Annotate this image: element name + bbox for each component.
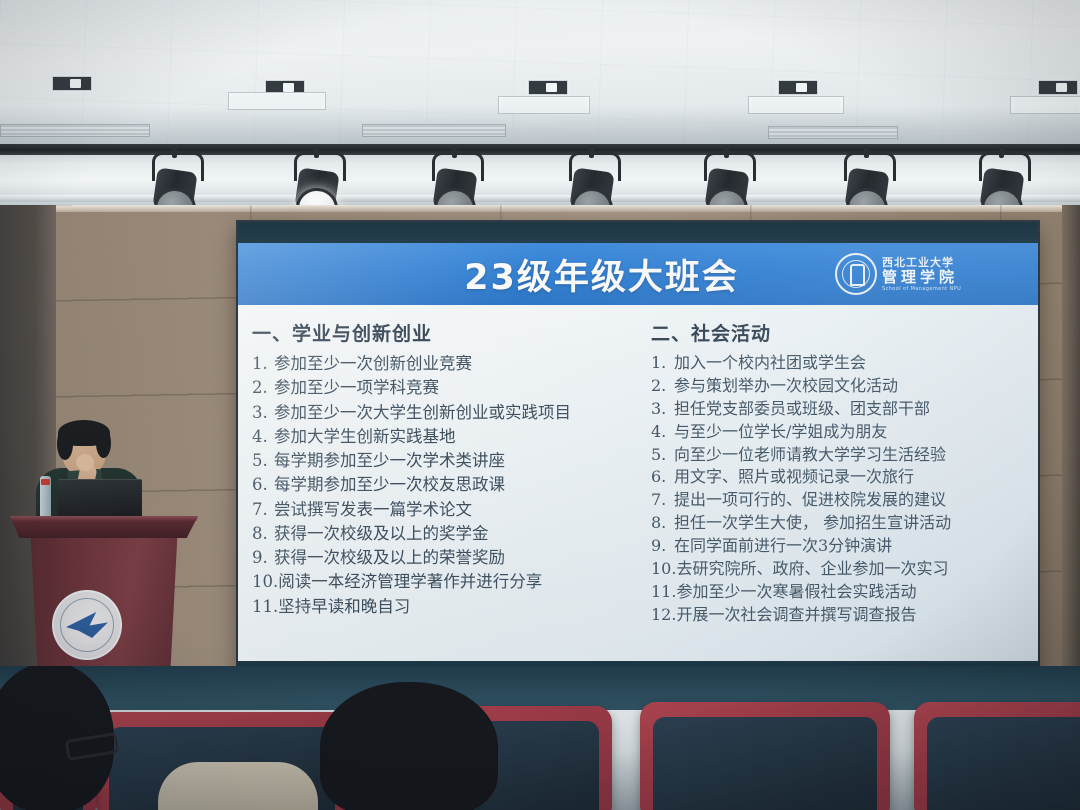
checklist-academics: 1.参加至少一次创新创业竞赛 2.参加至少一项学科竞赛 3.参加至少一次大学生创… <box>252 352 631 619</box>
item-text: 提出一项可行的、促进校院发展的建议 <box>674 490 946 509</box>
logo-school-name: 管理学院 <box>882 270 961 285</box>
column-heading: 一、学业与创新创业 <box>252 319 631 346</box>
university-seal-icon <box>835 253 877 295</box>
item-text: 在同学面前进行一次3分钟演讲 <box>674 536 892 555</box>
item-number: 11. <box>252 595 278 619</box>
slide-title: 23级年级大班会 <box>238 249 835 300</box>
list-item: 12.开展一次社会调查并撰写调查报告 <box>651 604 1030 627</box>
university-emblem-icon <box>52 590 122 660</box>
laptop <box>58 479 142 519</box>
item-text: 阅读一本经济管理学著作并进行分享 <box>278 572 542 591</box>
recessed-downlight-icon <box>778 80 818 95</box>
item-text: 向至少一位老师请教大学学习生活经验 <box>674 445 946 464</box>
list-item: 7.提出一项可行的、促进校院发展的建议 <box>651 489 1030 512</box>
seat-cushion <box>927 717 1080 810</box>
item-text: 参加至少一次创新创业竞赛 <box>274 354 472 373</box>
item-text: 参与策划举办一次校园文化活动 <box>674 376 898 395</box>
item-number: 5. <box>651 444 674 467</box>
item-number: 5. <box>252 449 274 473</box>
audience-area <box>0 666 1080 810</box>
presenter-hair-side <box>57 428 73 460</box>
auditorium-seat <box>914 702 1080 810</box>
ceiling <box>0 0 1080 152</box>
recessed-downlight-icon <box>528 80 568 95</box>
item-text: 用文字、照片或视频记录一次旅行 <box>674 467 914 486</box>
list-item: 11.参加至少一次寒暑假社会实践活动 <box>651 581 1030 604</box>
item-text: 参加至少一项学科竞赛 <box>274 378 439 397</box>
presentation-slide: 23级年级大班会 西北工业大学 管理学院 School of Managemen… <box>238 243 1038 661</box>
item-number: 2. <box>252 376 274 400</box>
item-number: 10. <box>252 570 278 594</box>
item-number: 12. <box>651 604 676 627</box>
item-number: 6. <box>651 466 674 489</box>
list-item: 3.担任党支部委员或班级、团支部干部 <box>651 398 1030 421</box>
item-text: 开展一次社会调查并撰写调查报告 <box>676 605 916 624</box>
item-text: 去研究院所、政府、企业参加一次实习 <box>676 559 948 578</box>
list-item: 2.参与策划举办一次校园文化活动 <box>651 375 1030 398</box>
projection-screen: 23级年级大班会 西北工业大学 管理学院 School of Managemen… <box>238 222 1038 674</box>
item-text: 获得一次校级及以上的荣誉奖励 <box>274 548 505 567</box>
logo-english-name: School of Management NPU <box>882 287 961 292</box>
logo-university-name: 西北工业大学 <box>882 257 961 268</box>
item-number: 4. <box>252 425 274 449</box>
recessed-downlight-icon <box>52 76 92 91</box>
list-item: 5.每学期参加至少一次学术类讲座 <box>252 449 631 473</box>
list-item: 5.向至少一位老师请教大学学习生活经验 <box>651 444 1030 467</box>
audience-member-head <box>320 682 498 810</box>
item-number: 9. <box>651 535 674 558</box>
item-number: 2. <box>651 375 674 398</box>
slide-columns: 一、学业与创新创业 1.参加至少一次创新创业竞赛 2.参加至少一项学科竞赛 3.… <box>238 305 1038 661</box>
presenter-hand <box>76 454 94 471</box>
water-bottle <box>40 476 51 518</box>
item-number: 7. <box>252 498 274 522</box>
item-number: 1. <box>252 352 274 376</box>
list-item: 6.用文字、照片或视频记录一次旅行 <box>651 466 1030 489</box>
item-text: 坚持早读和晚自习 <box>278 597 410 616</box>
slide-column-social-activities: 二、社会活动 1.加入一个校内社团或学生会 2.参与策划举办一次校园文化活动 3… <box>639 305 1038 661</box>
list-item: 1.参加至少一次创新创业竞赛 <box>252 352 631 376</box>
item-number: 10. <box>651 558 676 581</box>
recessed-downlight-icon <box>1038 80 1078 95</box>
column-heading: 二、社会活动 <box>651 319 1030 346</box>
list-item: 7.尝试撰写发表一篇学术论文 <box>252 498 631 522</box>
lecture-hall-photo: 23级年级大班会 西北工业大学 管理学院 School of Managemen… <box>0 0 1080 810</box>
item-number: 11. <box>651 581 676 604</box>
logo-wordmark: 西北工业大学 管理学院 School of Management NPU <box>882 257 961 292</box>
lectern-top-edge <box>10 516 198 521</box>
item-text: 参加至少一次大学生创新创业或实践项目 <box>274 403 571 422</box>
item-text: 每学期参加至少一次校友思政课 <box>274 475 505 494</box>
emblem-arrow-mark <box>66 612 108 638</box>
item-number: 8. <box>651 512 674 535</box>
list-item: 8.担任一次学生大使， 参加招生宣讲活动 <box>651 512 1030 535</box>
list-item: 11.坚持早读和晚自习 <box>252 595 631 619</box>
presenter-hair-side <box>96 428 111 458</box>
university-logo: 西北工业大学 管理学院 School of Management NPU <box>835 253 1038 295</box>
item-number: 7. <box>651 489 674 512</box>
item-number: 9. <box>252 546 274 570</box>
list-item: 4.与至少一位学长/学姐成为朋友 <box>651 421 1030 444</box>
item-text: 每学期参加至少一次学术类讲座 <box>274 451 505 470</box>
list-item: 10.阅读一本经济管理学著作并进行分享 <box>252 570 631 594</box>
list-item: 6.每学期参加至少一次校友思政课 <box>252 473 631 497</box>
item-text: 与至少一位学长/学姐成为朋友 <box>674 422 887 441</box>
slide-title-bar: 23级年级大班会 西北工业大学 管理学院 School of Managemen… <box>238 243 1038 305</box>
item-number: 4. <box>651 421 674 444</box>
list-item: 8.获得一次校级及以上的奖学金 <box>252 522 631 546</box>
item-number: 1. <box>651 352 674 375</box>
screen-letterbox-top <box>238 222 1038 243</box>
list-item: 10.去研究院所、政府、企业参加一次实习 <box>651 558 1030 581</box>
item-text: 获得一次校级及以上的奖学金 <box>274 524 489 543</box>
list-item: 1.加入一个校内社团或学生会 <box>651 352 1030 375</box>
item-number: 3. <box>651 398 674 421</box>
item-text: 参加至少一次寒暑假社会实践活动 <box>676 582 916 601</box>
auditorium-seat <box>640 702 890 810</box>
item-text: 加入一个校内社团或学生会 <box>674 353 866 372</box>
slide-column-academics: 一、学业与创新创业 1.参加至少一次创新创业竞赛 2.参加至少一项学科竞赛 3.… <box>238 305 639 661</box>
item-text: 担任一次学生大使， 参加招生宣讲活动 <box>674 513 951 532</box>
item-text: 尝试撰写发表一篇学术论文 <box>274 500 472 519</box>
item-number: 8. <box>252 522 274 546</box>
item-text: 参加大学生创新实践基地 <box>274 427 456 446</box>
item-number: 3. <box>252 401 274 425</box>
list-item: 4.参加大学生创新实践基地 <box>252 425 631 449</box>
list-item: 2.参加至少一项学科竞赛 <box>252 376 631 400</box>
audience-clothing <box>158 762 318 810</box>
seat-cushion <box>653 717 877 810</box>
checklist-social: 1.加入一个校内社团或学生会 2.参与策划举办一次校园文化活动 3.担任党支部委… <box>651 352 1030 627</box>
item-number: 6. <box>252 473 274 497</box>
list-item: 9.在同学面前进行一次3分钟演讲 <box>651 535 1030 558</box>
list-item: 9.获得一次校级及以上的荣誉奖励 <box>252 546 631 570</box>
list-item: 3.参加至少一次大学生创新创业或实践项目 <box>252 401 631 425</box>
item-text: 担任党支部委员或班级、团支部干部 <box>674 399 930 418</box>
